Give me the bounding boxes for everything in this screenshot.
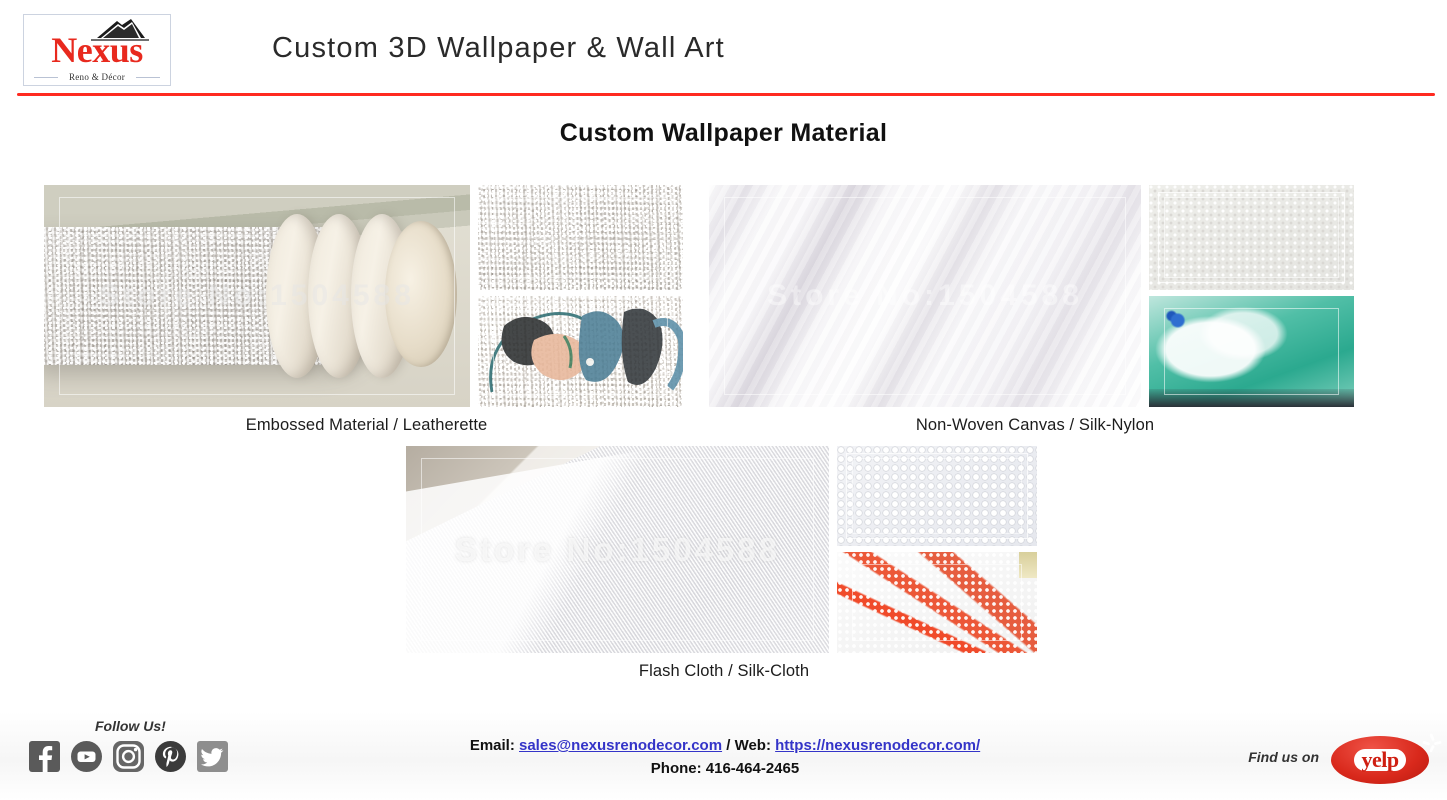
- find-us-on-label: Find us on: [1248, 749, 1319, 765]
- web-label: Web:: [735, 737, 771, 754]
- material-caption: Embossed Material / Leatherette: [44, 416, 689, 435]
- material-thumbnail-2[interactable]: [837, 552, 1037, 653]
- material-media-group: Store No:1504588: [406, 446, 1042, 653]
- material-thumbnail-2[interactable]: [478, 296, 683, 407]
- brand-logo-word: Nexus: [24, 31, 170, 69]
- material-thumbnail-group: [1149, 185, 1354, 407]
- material-thumbnail-2[interactable]: [1149, 296, 1354, 407]
- material-thumbnail-1[interactable]: [837, 446, 1037, 546]
- material-thumbnail-group: [837, 446, 1037, 653]
- mural-print-art: [478, 296, 683, 407]
- material-card-flashcloth[interactable]: Store No:1504588 Flash Cloth / Silk-Clot…: [406, 446, 1042, 681]
- youtube-icon[interactable]: [70, 740, 103, 773]
- brand-logo[interactable]: Nexus Reno & Décor: [23, 14, 171, 86]
- page-header: Nexus Reno & Décor Custom 3D Wallpaper &…: [0, 0, 1447, 100]
- page-title: Custom Wallpaper Material: [0, 119, 1447, 148]
- contact-info: Email: sales@nexusrenodecor.com / Web: h…: [300, 734, 1150, 780]
- material-card-embossed[interactable]: Store No:1504588 Embossed M: [44, 185, 689, 435]
- material-caption: Non-Woven Canvas / Silk-Nylon: [709, 416, 1361, 435]
- web-link[interactable]: https://nexusrenodecor.com/: [775, 737, 980, 754]
- material-thumbnail-1[interactable]: [478, 185, 683, 290]
- material-thumbnail-1[interactable]: [1149, 185, 1354, 290]
- page-footer: Follow Us! Email: sales@nexusre: [0, 712, 1447, 800]
- material-card-nonwoven[interactable]: Store No:1504588 Non-Woven Canvas / Silk…: [709, 185, 1361, 435]
- pinterest-icon[interactable]: [154, 740, 187, 773]
- instagram-icon[interactable]: [112, 740, 145, 773]
- material-main-image[interactable]: Store No:1504588: [44, 185, 470, 407]
- social-links: [28, 740, 229, 773]
- yelp-label: yelp: [1354, 749, 1405, 771]
- material-main-image[interactable]: Store No:1504588: [709, 185, 1141, 407]
- material-media-group: Store No:1504588: [44, 185, 689, 407]
- material-media-group: Store No:1504588: [709, 185, 1361, 407]
- twitter-icon[interactable]: [196, 740, 229, 773]
- header-title: Custom 3D Wallpaper & Wall Art: [272, 32, 725, 65]
- contact-line-1: Email: sales@nexusrenodecor.com / Web: h…: [300, 734, 1150, 757]
- email-label: Email:: [470, 737, 515, 754]
- phone-number: Phone: 416-464-2465: [300, 757, 1150, 780]
- material-main-image[interactable]: Store No:1504588: [406, 446, 829, 653]
- follow-us-label: Follow Us!: [95, 718, 166, 734]
- yelp-badge[interactable]: yelp: [1331, 736, 1429, 784]
- brand-logo-tagline: Reno & Décor: [24, 72, 170, 82]
- material-thumbnail-group: [478, 185, 683, 407]
- header-divider: [17, 93, 1435, 96]
- contact-separator: /: [722, 737, 735, 754]
- material-caption: Flash Cloth / Silk-Cloth: [406, 662, 1042, 681]
- yelp-burst-icon: [1422, 733, 1442, 753]
- email-link[interactable]: sales@nexusrenodecor.com: [519, 737, 722, 754]
- facebook-icon[interactable]: [28, 740, 61, 773]
